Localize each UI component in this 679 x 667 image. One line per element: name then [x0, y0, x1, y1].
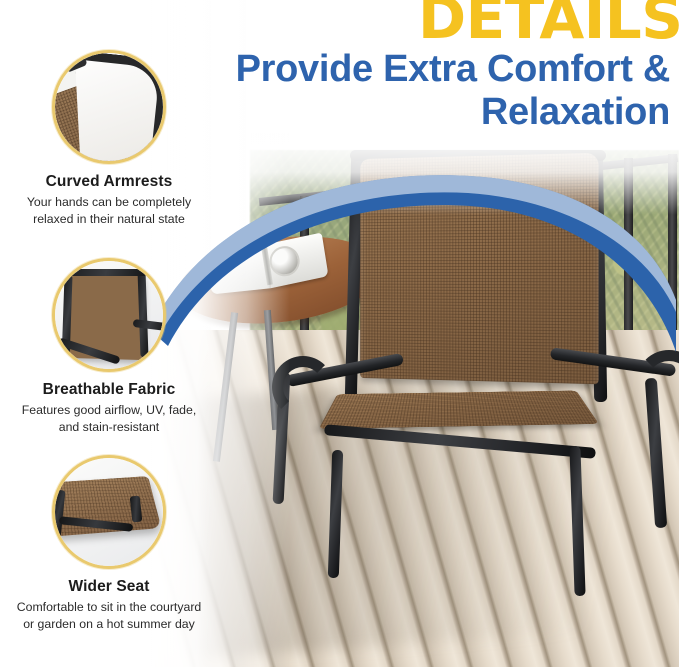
feature-image-breathable-fabric: [52, 258, 166, 372]
feature-title: Breathable Fabric: [0, 381, 227, 399]
chair-seat-front-rail: [324, 424, 596, 459]
feature-curved-armrests: Curved Armrests Your hands can be comple…: [0, 50, 227, 228]
feature-image-wider-seat: [52, 455, 166, 569]
chair-rear-left-leg: [328, 450, 343, 578]
feature-description-line-2: or garden on a hot summer day: [0, 616, 227, 632]
feature-description-line-1: Your hands can be completely: [0, 194, 227, 210]
chair-seat-fabric: [319, 391, 599, 429]
feature-title: Wider Seat: [0, 578, 227, 596]
feature-description-line-2: relaxed in their natural state: [0, 211, 227, 227]
feature-image-curved-armrests: [52, 50, 166, 164]
feature-description-line-2: and stain-resistant: [0, 419, 227, 435]
feature-wider-seat: Wider Seat Comfortable to sit in the cou…: [0, 455, 227, 633]
feature-description-line-1: Features good airflow, UV, fade,: [0, 402, 227, 418]
infographic-root: DETAILS Provide Extra Comfort & Relaxati…: [0, 0, 679, 667]
kicker-details: DETAILS: [418, 0, 679, 47]
feature-breathable-fabric: Breathable Fabric Features good airflow,…: [0, 258, 227, 436]
feature-description-line-1: Comfortable to sit in the courtyard: [0, 599, 227, 615]
feature-title: Curved Armrests: [0, 173, 227, 191]
